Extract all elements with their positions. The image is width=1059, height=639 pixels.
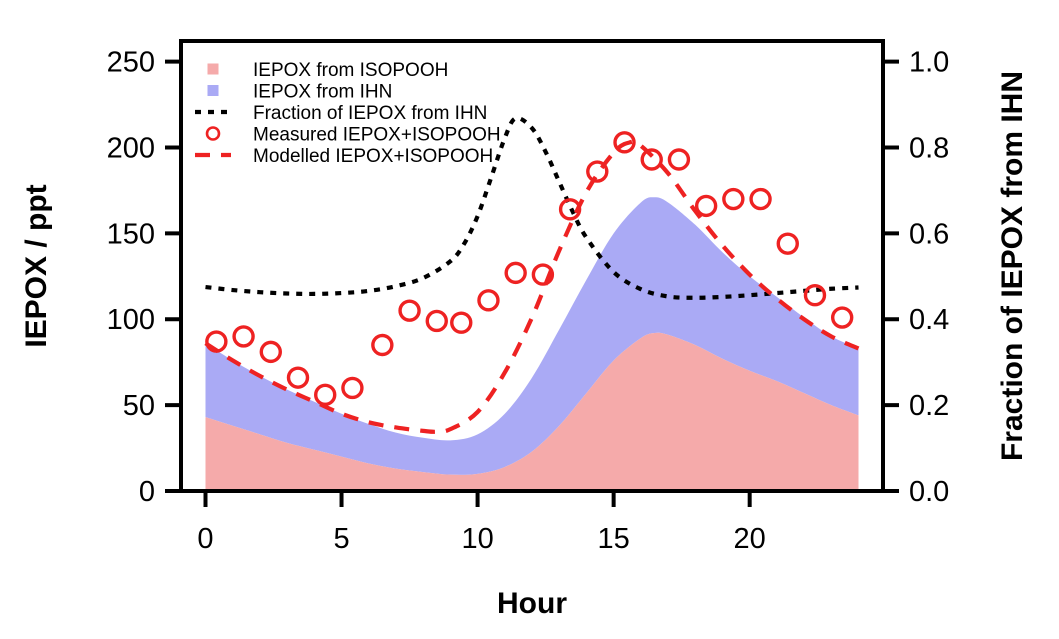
legend-entry: Fraction of IEPOX from IHN [195,103,487,124]
legend-label: IEPOX from ISOPOOH [253,60,448,81]
measured-point [234,327,253,346]
legend-circle-icon [207,128,219,140]
measured-point [316,385,335,404]
y-axis-tick-label: 100 [107,304,155,336]
legend-label: IEPOX from IHN [253,82,392,103]
measured-point [373,336,392,355]
y-axis-left: 050100150200250 [107,47,181,508]
legend-entry: Measured IEPOX+ISOPOOH [207,125,501,146]
y-axis-right-title: Fraction of IEPOX from IHN [996,71,1029,461]
y-axis-right-tick-label: 1.0 [909,47,949,79]
y-axis-tick-label: 50 [123,390,155,422]
y-axis-left-title: IEPOX / ppt [20,184,53,347]
y-axis-tick-label: 0 [139,476,155,508]
x-axis-title: Hour [497,587,567,620]
legend-swatch-icon [208,64,219,75]
y-axis-right-tick-label: 0.8 [909,132,949,164]
y-axis-right-tick-label: 0.6 [909,218,949,250]
legend-label: Modelled IEPOX+ISOPOOH [253,146,493,167]
y-axis-right-tick-label: 0.4 [909,304,949,336]
measured-point [724,190,743,209]
y-axis-right-tick-label: 0.2 [909,390,949,422]
legend-swatch-icon [208,85,219,96]
legend-label: Fraction of IEPOX from IHN [253,103,487,124]
measured-point [343,378,362,397]
x-axis: 05101520 [197,491,765,555]
measured-point [452,313,471,332]
legend-entry: IEPOX from ISOPOOH [208,60,449,81]
measured-point [751,190,770,209]
legend-entry: Modelled IEPOX+ISOPOOH [195,146,493,167]
measured-point [778,234,797,253]
legend-entry: IEPOX from IHN [208,82,393,103]
measured-point [506,263,525,282]
y-axis-right-tick-label: 0.0 [909,476,949,508]
chart-canvas: 050100150200250IEPOX / ppt0.00.20.40.60.… [0,0,1059,639]
chart-figure: 050100150200250IEPOX / ppt0.00.20.40.60.… [0,0,1059,639]
chart-legend: IEPOX from ISOPOOHIEPOX from IHNFraction… [195,60,501,167]
measured-point [289,368,308,387]
measured-point [479,291,498,310]
measured-point [427,311,446,330]
y-axis-right: 0.00.20.40.60.81.0 [883,47,949,508]
measured-point [669,150,688,169]
measured-point [833,308,852,327]
measured-point [400,301,419,320]
x-axis-tick-label: 5 [333,523,349,555]
legend-label: Measured IEPOX+ISOPOOH [253,125,501,146]
measured-point [805,286,824,305]
x-axis-tick-label: 15 [597,523,629,555]
measured-point [261,342,280,361]
measured-point [697,196,716,215]
y-axis-tick-label: 150 [107,218,155,250]
plot-area [205,118,858,491]
y-axis-tick-label: 250 [107,47,155,79]
y-axis-tick-label: 200 [107,132,155,164]
x-axis-tick-label: 10 [461,523,493,555]
x-axis-tick-label: 0 [197,523,213,555]
x-axis-tick-label: 20 [734,523,766,555]
